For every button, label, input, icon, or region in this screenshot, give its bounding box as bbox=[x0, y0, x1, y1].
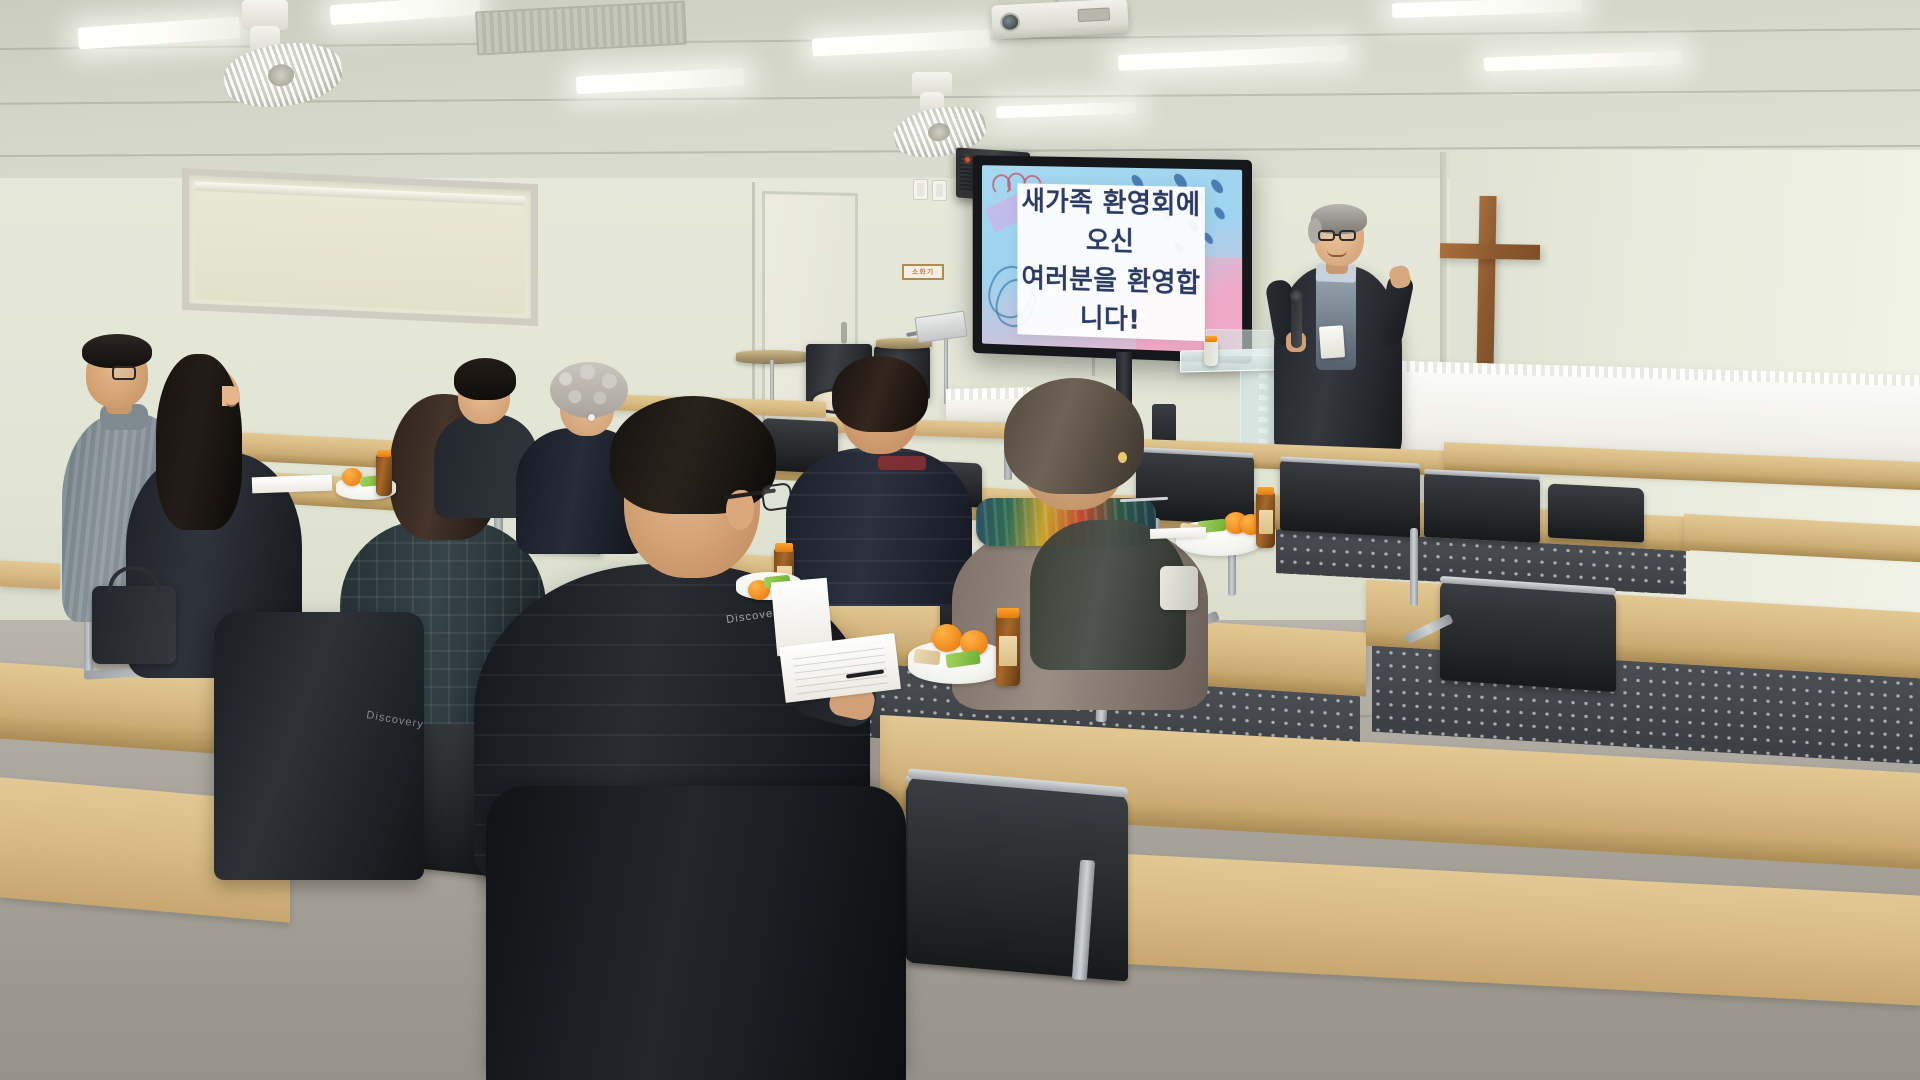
presenter bbox=[1264, 204, 1410, 460]
fire-extinguisher-sign: 소화기 bbox=[902, 264, 944, 280]
wall-cross-vertical bbox=[1476, 196, 1496, 374]
fan-head bbox=[220, 36, 345, 114]
speaker-power-led bbox=[965, 157, 970, 162]
bottle-label bbox=[1259, 510, 1273, 534]
sign-label: 소화기 bbox=[912, 267, 934, 277]
projector-vent bbox=[1078, 7, 1111, 22]
desk-foreground-far-left bbox=[0, 560, 60, 589]
audience-member-foreground-lower bbox=[486, 786, 906, 1080]
chair-right-4[interactable] bbox=[1548, 483, 1644, 542]
chair-foreground-2[interactable] bbox=[1440, 580, 1616, 692]
slide-confetti bbox=[1209, 177, 1226, 195]
chair-foreground-bottom[interactable] bbox=[908, 774, 1128, 981]
water-bottle[interactable] bbox=[1204, 340, 1218, 366]
paper-handout[interactable] bbox=[1150, 527, 1206, 539]
bottle-cap bbox=[1205, 336, 1217, 342]
window bbox=[182, 168, 538, 326]
slide-headline-line1: 새가족 환영회에 오신 bbox=[1017, 183, 1204, 265]
presenter-glasses-right bbox=[1339, 230, 1356, 241]
drink-bottle-3[interactable] bbox=[376, 454, 392, 496]
window-blind bbox=[195, 192, 525, 315]
room-scene: 소화기 bbox=[0, 0, 1920, 1080]
paper-handout[interactable] bbox=[252, 475, 333, 494]
ceiling-fan-left bbox=[224, 0, 354, 110]
chair-right-2[interactable] bbox=[1280, 458, 1420, 537]
bottle-cap bbox=[1257, 487, 1274, 495]
person-hair-long bbox=[156, 354, 242, 530]
chair-right-3[interactable] bbox=[1424, 471, 1540, 543]
slide-confetti bbox=[1212, 205, 1227, 221]
ceiling-fan-right bbox=[894, 72, 990, 158]
folded-coat bbox=[214, 612, 424, 880]
handheld-microphone[interactable] bbox=[1291, 296, 1302, 348]
bottle-cap bbox=[997, 608, 1019, 618]
tangerine bbox=[342, 468, 362, 486]
person-lanyard bbox=[878, 456, 926, 470]
booklet-text-lines bbox=[791, 641, 888, 695]
chair-leg bbox=[1410, 528, 1418, 606]
door-handle[interactable] bbox=[841, 322, 847, 344]
rice-cake bbox=[913, 649, 940, 666]
tangerine bbox=[932, 624, 962, 652]
display-bezel: 새가족 환영회에 오신 여러분을 환영합니다! bbox=[982, 165, 1242, 353]
handbag bbox=[92, 586, 176, 664]
thermos-cup[interactable] bbox=[1160, 566, 1198, 610]
person-hair bbox=[832, 356, 928, 432]
light-switch-plate[interactable] bbox=[913, 179, 928, 200]
slide-card: 새가족 환영회에 오신 여러분을 환영합니다! bbox=[1017, 184, 1204, 341]
slide-headline: 새가족 환영회에 오신 여러분을 환영합니다! bbox=[1017, 183, 1204, 342]
microphone-head bbox=[1290, 290, 1303, 302]
display-screen: 새가족 환영회에 오신 여러분을 환영합니다! bbox=[982, 165, 1242, 353]
slide-headline-line2: 여러분을 환영합니다! bbox=[1017, 259, 1204, 342]
light-switch-plate[interactable] bbox=[932, 180, 947, 201]
presenter-name-badge bbox=[1319, 325, 1345, 359]
bottle-label bbox=[999, 636, 1017, 666]
bottle-cap bbox=[377, 450, 391, 457]
person-hair bbox=[454, 358, 516, 400]
bottle-cap bbox=[775, 543, 793, 552]
wall-cross-horizontal bbox=[1440, 243, 1540, 260]
presenter-glasses-bridge bbox=[1335, 234, 1340, 236]
presenter-glasses-left bbox=[1318, 230, 1335, 241]
projector-lens bbox=[1000, 12, 1021, 32]
